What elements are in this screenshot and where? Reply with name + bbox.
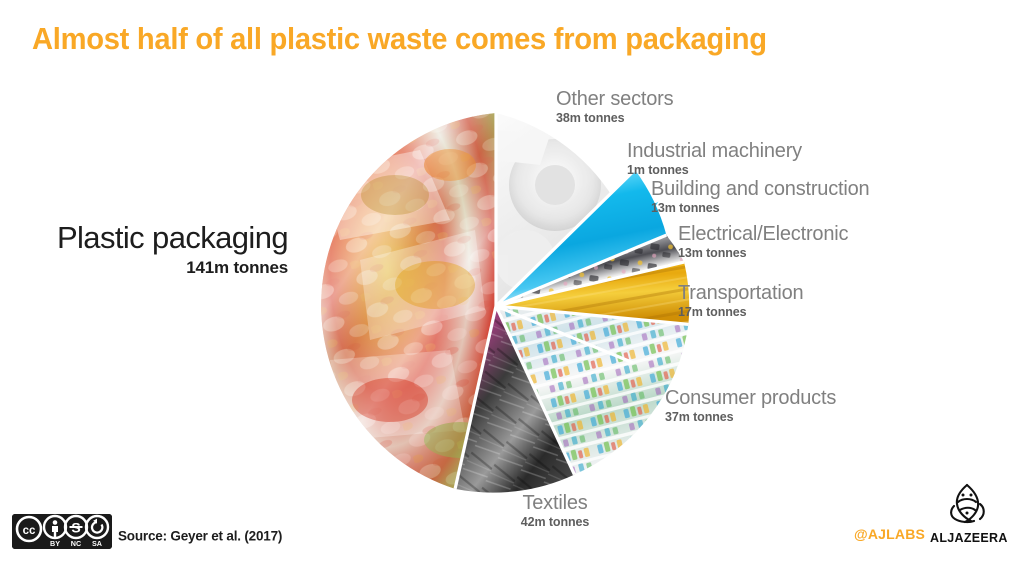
label-plastic-packaging: Plastic packaging 141m tonnes bbox=[0, 222, 288, 278]
aljazeera-wordmark: ALJAZEERA bbox=[930, 531, 1005, 545]
label-industrial-machinery: Industrial machinery 1m tonnes bbox=[627, 141, 802, 179]
label-transportation: Transportation 17m tonnes bbox=[678, 283, 803, 321]
label-transportation-name: Transportation bbox=[678, 283, 803, 304]
svg-text:SA: SA bbox=[92, 539, 102, 548]
aljazeera-calligraphy-icon bbox=[930, 482, 1005, 526]
svg-text:cc: cc bbox=[23, 525, 36, 537]
label-industrial-machinery-name: Industrial machinery bbox=[627, 141, 802, 162]
source-credit: Source: Geyer et al. (2017) bbox=[118, 529, 282, 544]
ajlabs-handle[interactable]: @AJLABS bbox=[854, 526, 925, 542]
label-plastic-packaging-value: 141m tonnes bbox=[0, 257, 288, 278]
svg-text:BY: BY bbox=[50, 539, 60, 548]
label-building-and-construction-name: Building and construction bbox=[651, 179, 869, 200]
label-electrical-electronic-value: 13m tonnes bbox=[678, 246, 848, 262]
creative-commons-badge: cc BY S NC SA bbox=[12, 514, 112, 549]
page-title: Almost half of all plastic waste comes f… bbox=[32, 22, 934, 56]
label-industrial-machinery-value: 1m tonnes bbox=[627, 163, 802, 179]
label-consumer-products-value: 37m tonnes bbox=[665, 410, 836, 426]
label-other-sectors: Other sectors 38m tonnes bbox=[556, 89, 673, 127]
label-electrical-electronic: Electrical/Electronic 13m tonnes bbox=[678, 224, 848, 262]
creative-commons-icon: cc BY S NC SA bbox=[12, 514, 112, 549]
label-plastic-packaging-name: Plastic packaging bbox=[0, 222, 288, 253]
label-building-and-construction-value: 13m tonnes bbox=[651, 201, 869, 217]
label-textiles: Textiles 42m tonnes bbox=[455, 493, 655, 531]
label-building-and-construction: Building and construction 13m tonnes bbox=[651, 179, 869, 217]
aljazeera-logo: ALJAZEERA bbox=[930, 482, 1005, 544]
label-transportation-value: 17m tonnes bbox=[678, 305, 803, 321]
label-other-sectors-value: 38m tonnes bbox=[556, 111, 673, 127]
label-consumer-products-name: Consumer products bbox=[665, 388, 836, 409]
svg-text:NC: NC bbox=[71, 539, 81, 548]
label-textiles-name: Textiles bbox=[455, 493, 655, 514]
label-electrical-electronic-name: Electrical/Electronic bbox=[678, 224, 848, 245]
label-other-sectors-name: Other sectors bbox=[556, 89, 673, 110]
label-consumer-products: Consumer products 37m tonnes bbox=[665, 388, 836, 426]
label-textiles-value: 42m tonnes bbox=[455, 515, 655, 531]
infographic-canvas: Almost half of all plastic waste comes f… bbox=[0, 0, 1015, 561]
